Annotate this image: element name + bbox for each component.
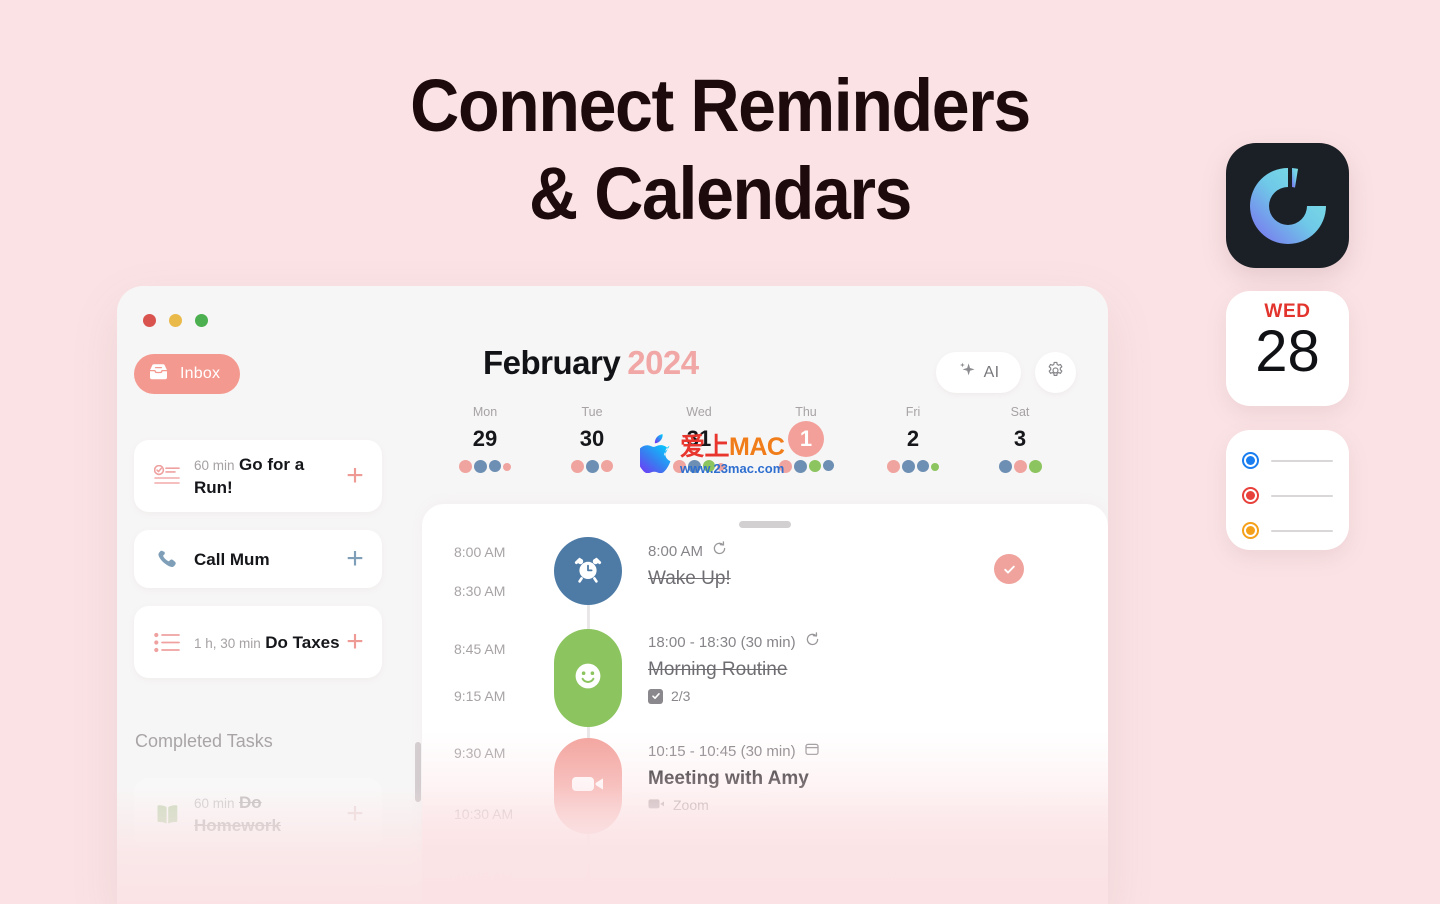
gutter-time: 8:30 AM xyxy=(454,583,505,599)
completed-tasks-header: Completed Tasks xyxy=(135,731,273,752)
day-name: Wed xyxy=(655,404,743,421)
repeat-icon xyxy=(805,632,820,653)
task-text: Call Mum xyxy=(194,548,342,571)
day-strip: Mon 29 Tue 30 Wed 3 xyxy=(422,404,1108,482)
event-icon-bubble-meeting-with-amy[interactable] xyxy=(554,738,622,834)
day-dots xyxy=(655,460,743,473)
add-task-button[interactable]: + xyxy=(342,461,368,491)
page-title-line2: & Calendars xyxy=(58,150,1383,238)
task-duration: 60 min xyxy=(194,458,235,473)
list-icon xyxy=(150,632,184,653)
sparkle-icon xyxy=(958,361,976,384)
event-title: Wake Up! xyxy=(648,565,731,592)
inbox-tray-icon xyxy=(148,363,169,386)
gutter-time: 10:45 AM xyxy=(454,870,513,886)
settings-button[interactable] xyxy=(1035,352,1076,393)
task-text: 60 min Go for a Run! xyxy=(194,453,342,499)
task-list: 60 min Go for a Run! + Call Mum + xyxy=(134,440,382,696)
reminders-widget[interactable] xyxy=(1226,430,1349,550)
event-subtasks: 2/3 xyxy=(648,688,820,704)
day-name: Thu xyxy=(762,404,850,421)
event-wake-up[interactable]: 8:00 AM Wake Up! xyxy=(648,541,731,592)
day-name: Sat xyxy=(976,404,1064,421)
gutter-time: 10:30 AM xyxy=(454,806,513,822)
calendar-icon xyxy=(805,742,819,762)
day-dots xyxy=(441,460,529,473)
event-title: Meeting with Amy xyxy=(648,765,819,792)
subtask-count: 2/3 xyxy=(671,688,690,704)
video-camera-icon xyxy=(570,772,606,801)
sidebar-item-inbox[interactable]: Inbox xyxy=(134,354,240,394)
year-label: 2024 xyxy=(627,344,698,381)
day-number-wrap: 1 xyxy=(762,421,850,457)
task-title: Do Taxes xyxy=(265,633,339,652)
calendar-widget[interactable]: WED 28 xyxy=(1226,291,1349,406)
day-number: 31 xyxy=(655,421,743,457)
task-duration: 60 min xyxy=(194,796,235,811)
day-dots xyxy=(869,460,957,473)
reminder-bullet-blue xyxy=(1242,452,1259,469)
day-name: Fri xyxy=(869,404,957,421)
day-number: 2 xyxy=(869,421,957,457)
sidebar: Inbox 60 min Go for a Run! + xyxy=(117,286,422,904)
task-text: 60 min Do Homework xyxy=(194,791,342,837)
day-column-fri[interactable]: Fri 2 xyxy=(869,404,957,473)
reminder-row xyxy=(1242,487,1333,504)
day-dots xyxy=(976,460,1064,473)
reminder-bullet-red xyxy=(1242,487,1259,504)
checklist-icon xyxy=(150,465,184,488)
task-card-do-taxes[interactable]: 1 h, 30 min Do Taxes + xyxy=(134,606,382,678)
event-location: Zoom xyxy=(648,797,819,813)
gutter-time: 9:15 AM xyxy=(454,688,505,704)
task-title: Call Mum xyxy=(194,550,270,569)
today-highlight: 1 xyxy=(788,421,824,457)
add-task-button[interactable]: + xyxy=(342,544,368,574)
event-meta: 8:00 AM xyxy=(648,541,731,562)
event-time: 18:00 - 18:30 (30 min) xyxy=(648,633,796,653)
event-complete-badge[interactable] xyxy=(994,554,1024,584)
event-time: 8:00 AM xyxy=(648,542,703,562)
gradient-ring-icon xyxy=(1245,163,1331,249)
task-card-go-for-a-run[interactable]: 60 min Go for a Run! + xyxy=(134,440,382,512)
event-meta: 18:00 - 18:30 (30 min) xyxy=(648,632,820,653)
gutter-time: 8:45 AM xyxy=(454,641,505,657)
smiley-face-icon xyxy=(571,659,605,698)
completed-task-list: 60 min Do Homework + xyxy=(134,778,382,868)
day-number: 3 xyxy=(976,421,1064,457)
day-column-sat[interactable]: Sat 3 xyxy=(976,404,1064,473)
repeat-icon xyxy=(712,541,727,562)
task-text: 1 h, 30 min Do Taxes xyxy=(194,631,342,654)
task-card-call-mum[interactable]: Call Mum + xyxy=(134,530,382,588)
day-dots xyxy=(762,460,850,473)
event-icon-bubble-wake-up[interactable] xyxy=(554,537,622,605)
video-camera-icon xyxy=(648,797,665,813)
event-icon-bubble-morning-routine[interactable] xyxy=(554,629,622,727)
sidebar-item-inbox-label: Inbox xyxy=(180,365,220,383)
ai-button-label: AI xyxy=(984,364,1000,382)
reminder-line xyxy=(1271,460,1333,462)
day-column-tue[interactable]: Tue 30 xyxy=(548,404,636,473)
app-icon[interactable] xyxy=(1226,143,1349,268)
alarm-clock-icon xyxy=(573,554,603,589)
phone-icon xyxy=(150,548,184,571)
event-time: 10:15 - 10:45 (30 min) xyxy=(648,742,796,762)
event-meeting-with-amy[interactable]: 10:15 - 10:45 (30 min) Meeting with Amy xyxy=(648,742,819,813)
checkbox-icon xyxy=(648,689,663,704)
drag-handle[interactable] xyxy=(739,521,791,528)
page-title: Connect Reminders & Calendars xyxy=(58,62,1383,238)
day-column-wed[interactable]: Wed 31 xyxy=(655,404,743,473)
day-number: 29 xyxy=(441,421,529,457)
reminder-line xyxy=(1271,530,1333,532)
check-icon xyxy=(1001,561,1018,578)
ai-button[interactable]: AI xyxy=(936,352,1021,393)
month-name: February xyxy=(483,344,620,381)
gear-icon xyxy=(1046,361,1065,385)
day-number: 30 xyxy=(548,421,636,457)
app-window: Inbox 60 min Go for a Run! + xyxy=(117,286,1108,904)
calendar-widget-day: 28 xyxy=(1255,321,1320,383)
sidebar-scrollbar[interactable] xyxy=(415,742,421,802)
reminder-bullet-orange xyxy=(1242,522,1259,539)
add-task-button[interactable]: + xyxy=(342,627,368,657)
month-title: February2024 xyxy=(483,344,699,382)
gutter-time: 9:30 AM xyxy=(454,745,505,761)
task-duration: 1 h, 30 min xyxy=(194,636,261,651)
event-location-label: Zoom xyxy=(673,797,709,813)
task-card-do-homework[interactable]: 60 min Do Homework + xyxy=(134,778,382,850)
day-name: Tue xyxy=(548,404,636,421)
page-title-line1: Connect Reminders xyxy=(410,64,1030,147)
event-title: Morning Routine xyxy=(648,656,820,683)
gutter-time: 8:00 AM xyxy=(454,544,505,560)
day-name: Mon xyxy=(441,404,529,421)
reminder-row xyxy=(1242,452,1333,469)
book-icon xyxy=(150,804,184,825)
event-morning-routine[interactable]: 18:00 - 18:30 (30 min) Morning Routine xyxy=(648,632,820,704)
day-dots xyxy=(548,460,636,473)
timeline-card: 8:00 AM 8:30 AM 8:45 AM 9:15 AM 9:30 AM … xyxy=(422,504,1108,904)
day-column-thu[interactable]: Thu 1 xyxy=(762,404,850,473)
day-number: 1 xyxy=(800,421,812,457)
calendar-panel: February2024 AI xyxy=(422,286,1108,904)
event-meta: 10:15 - 10:45 (30 min) xyxy=(648,742,819,762)
day-column-mon[interactable]: Mon 29 xyxy=(441,404,529,473)
reminder-line xyxy=(1271,495,1333,497)
toolbar: AI xyxy=(936,352,1076,393)
add-task-button[interactable]: + xyxy=(342,799,368,829)
reminder-row xyxy=(1242,522,1333,539)
